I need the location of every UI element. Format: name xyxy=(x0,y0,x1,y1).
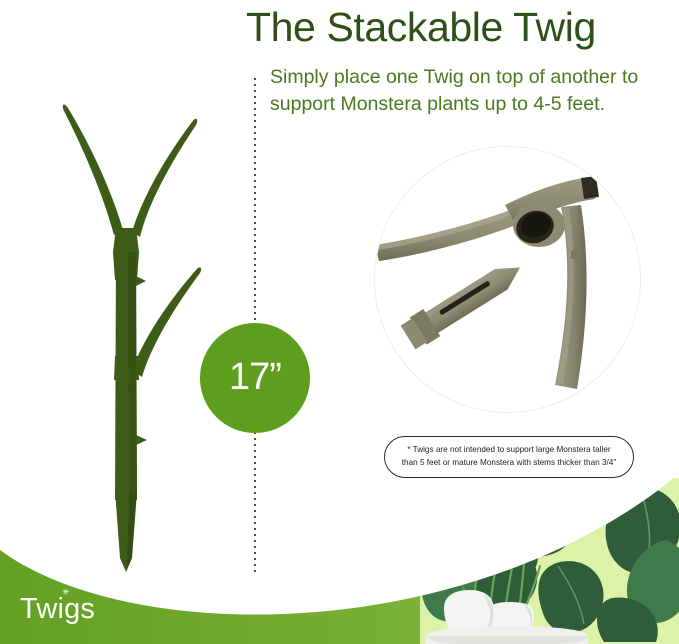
bottom-band xyxy=(0,478,679,644)
page-title: The Stackable Twig xyxy=(246,2,676,52)
disclaimer-line-2: than 5 feet or mature Monstera with stem… xyxy=(399,457,619,470)
disclaimer-line-1: * Twigs are not intended to support larg… xyxy=(399,444,619,457)
size-badge-label: 17” xyxy=(229,358,281,396)
product-infographic: The Stackable Twig Simply place one Twig… xyxy=(0,0,679,644)
brand-label: Twigs xyxy=(20,592,95,626)
bottom-band-graphic xyxy=(0,478,679,644)
plant-photo xyxy=(420,478,679,644)
closeup-contents xyxy=(375,147,640,412)
description-text: Simply place one Twig on top of another … xyxy=(270,64,662,117)
joint-closeup-photo xyxy=(375,147,640,412)
joint-closeup-inset xyxy=(375,147,640,412)
sparkle-icon: ✳ xyxy=(62,588,70,597)
disclaimer-note: * Twigs are not intended to support larg… xyxy=(384,436,634,478)
size-badge: 17” xyxy=(200,323,310,433)
